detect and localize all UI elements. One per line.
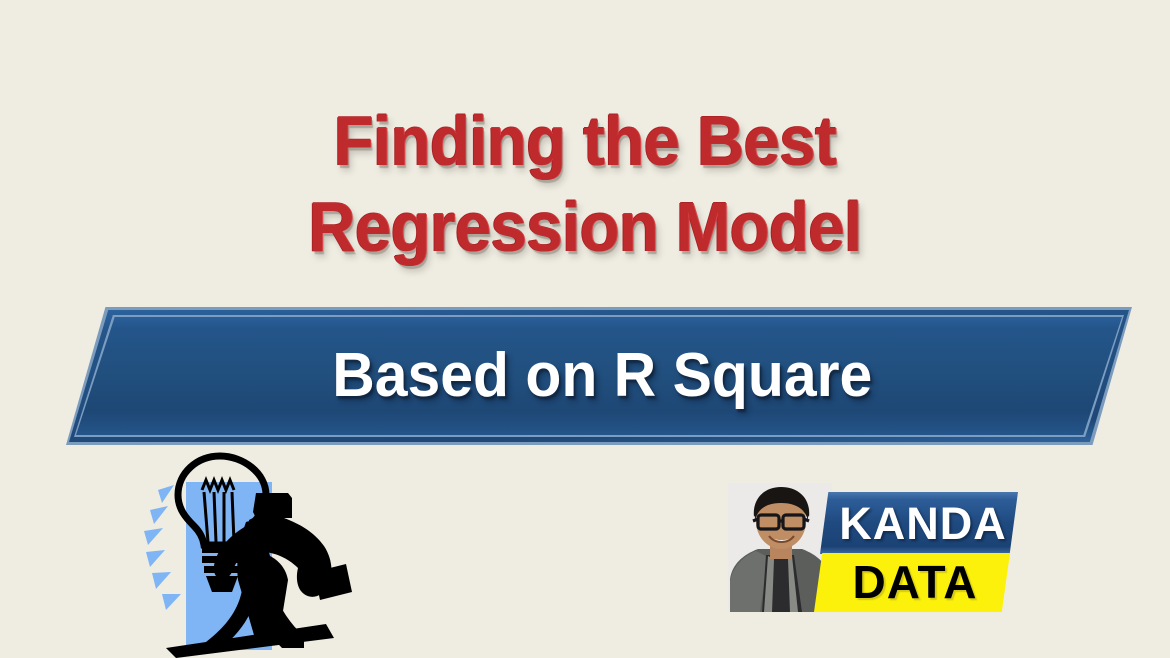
logo-band-kanda: KANDA [820,492,1018,554]
logo-text-kanda: KANDA [820,492,1018,554]
light-rays [144,485,181,610]
page-title: Finding the Best Regression Model [0,98,1170,270]
businessman-pushing-lightbulb-icon [128,452,363,658]
logo-band-data: DATA [814,553,1010,612]
logo-text-data: DATA [814,553,1010,612]
subtitle-banner: Based on R Square [66,307,1132,445]
banner-text-wrap: Based on R Square [66,307,1132,445]
banner-label: Based on R Square [332,345,872,407]
title-line-1: Finding the Best [41,98,1129,184]
kanda-data-logo: KANDA DATA [728,483,1018,615]
presenter-photo [728,483,832,612]
title-line-2: Regression Model [41,184,1129,270]
slide-canvas: Finding the Best Regression Model Based … [0,0,1170,658]
